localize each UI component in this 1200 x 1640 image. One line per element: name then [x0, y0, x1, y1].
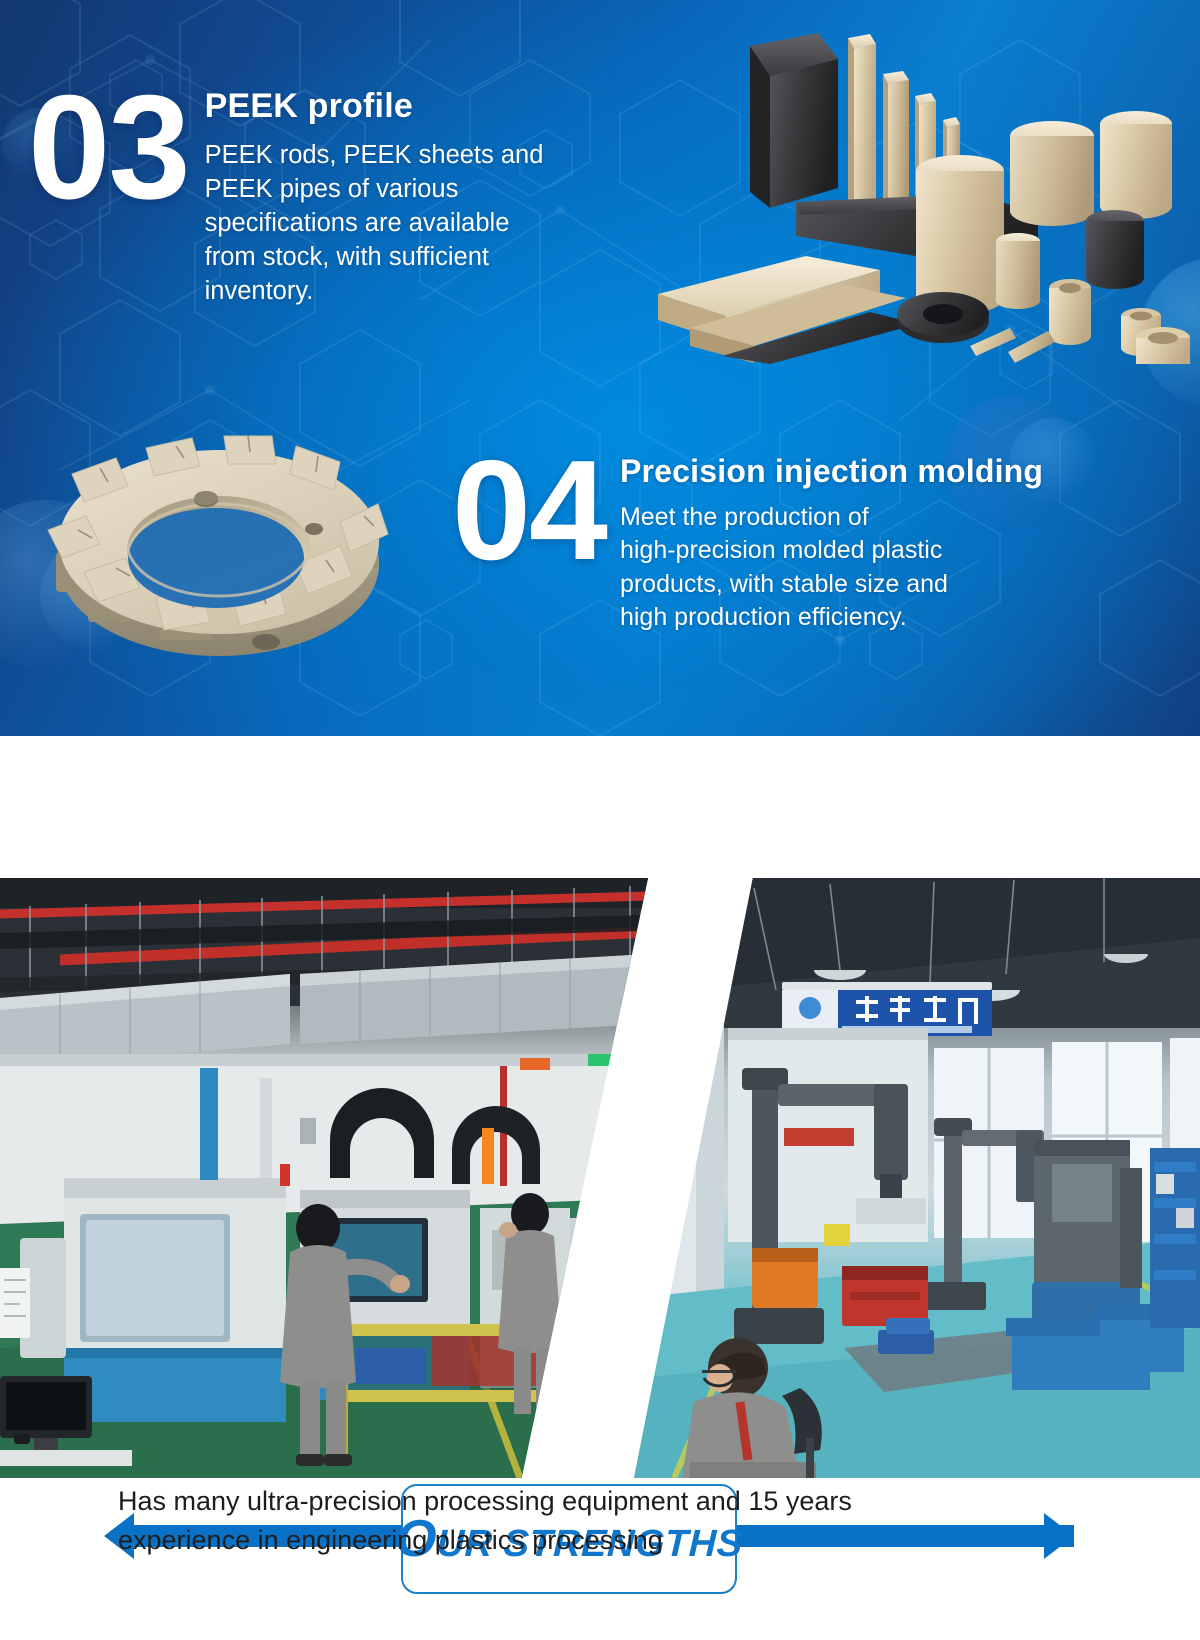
feature-body-line: from stock, with sufficient: [205, 241, 544, 275]
factory-photo-strip: [0, 878, 1200, 1478]
feature-body-line: Meet the production of: [620, 501, 1043, 534]
caption-line-2: experience in engineering plastics proce…: [118, 1521, 1200, 1560]
feature-body-line: high production efficiency.: [620, 601, 1043, 634]
feature-body-line: specifications are available: [205, 207, 544, 241]
mold-workshop-photo: [634, 878, 1200, 1478]
cnc-machining-workshop-photo: [0, 878, 648, 1478]
feature-card-04: 04 Precision injection molding Meet the …: [452, 440, 1152, 634]
peek-gear-ring-photo: [34, 412, 404, 674]
our-strengths-banner: OUR STRENGTHS: [0, 736, 1200, 878]
feature-card-03: 03 PEEK profile PEEK rods, PEEK sheets a…: [28, 78, 648, 309]
feature-body-line: high-precision molded plastic: [620, 534, 1043, 567]
feature-body-line: products, with stable size and: [620, 568, 1043, 601]
page-caption: Has many ultra-precision processing equi…: [0, 1482, 1200, 1560]
feature-body-line: PEEK pipes of various: [205, 173, 544, 207]
feature-number-03: 03: [28, 80, 189, 216]
features-blue-panel: 03 PEEK profile PEEK rods, PEEK sheets a…: [0, 0, 1200, 736]
caption-line-1: Has many ultra-precision processing equi…: [118, 1482, 1200, 1521]
feature-body-line: inventory.: [205, 275, 544, 309]
feature-body-04: Meet the production of high-precision mo…: [620, 501, 1043, 634]
feature-body-line: PEEK rods, PEEK sheets and: [205, 139, 544, 173]
product-feature-page: 03 PEEK profile PEEK rods, PEEK sheets a…: [0, 0, 1200, 1640]
feature-title-04: Precision injection molding: [620, 454, 1043, 489]
feature-title-03: PEEK profile: [205, 88, 544, 125]
feature-number-04: 04: [452, 446, 606, 577]
peek-profile-products-photo: [618, 16, 1200, 364]
feature-body-03: PEEK rods, PEEK sheets and PEEK pipes of…: [205, 139, 544, 309]
